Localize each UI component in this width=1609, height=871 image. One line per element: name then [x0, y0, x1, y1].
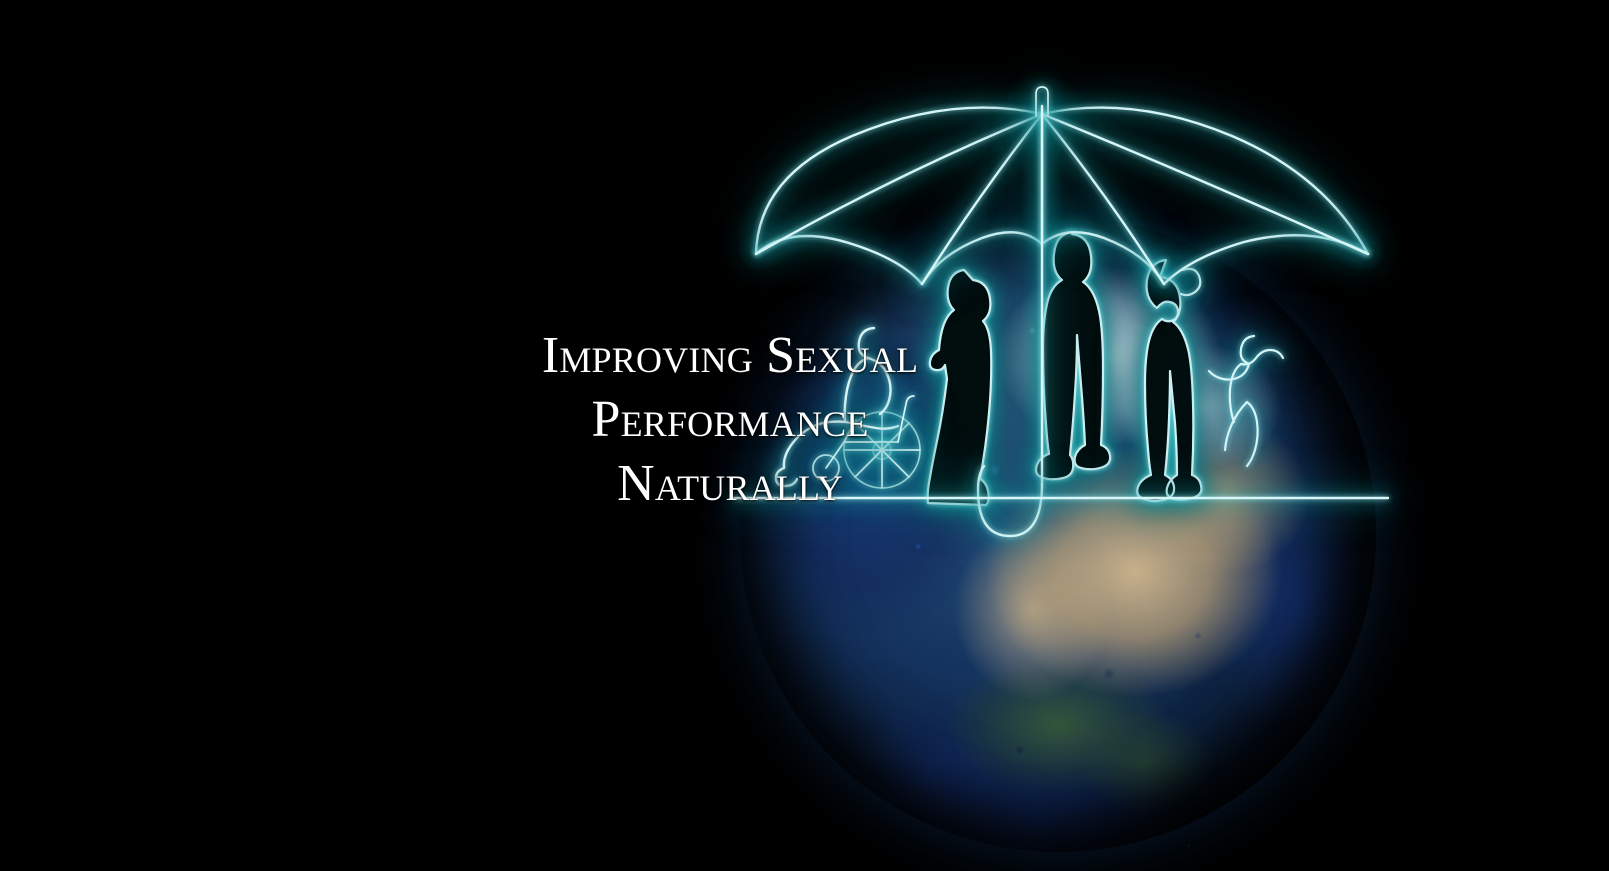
star	[1403, 458, 1405, 460]
hero-banner: Improving Sexual Performance Naturally	[0, 0, 1609, 871]
star	[1048, 188, 1049, 189]
earth-globe	[740, 216, 1376, 852]
